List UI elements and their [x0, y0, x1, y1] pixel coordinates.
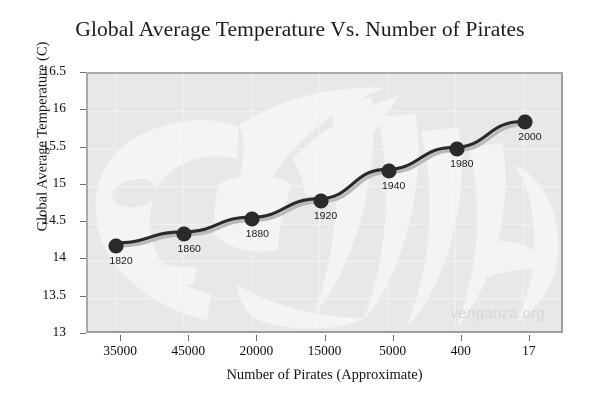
data-point-marker[interactable]: [313, 193, 328, 208]
y-tick-mark: [80, 72, 86, 73]
gridline-horizontal: [88, 224, 561, 225]
x-tick-label: 45000: [171, 343, 205, 359]
data-point-label: 1940: [382, 180, 405, 192]
data-point-marker[interactable]: [517, 115, 532, 130]
x-tick-mark: [188, 335, 189, 341]
y-tick-mark: [80, 296, 86, 297]
gridline-horizontal: [88, 261, 561, 262]
y-tick-label: 14.5: [0, 212, 66, 228]
data-point-label: 2000: [518, 131, 541, 143]
gridline-horizontal: [88, 298, 561, 299]
y-tick-label: 13.5: [0, 287, 66, 303]
y-tick-mark: [80, 147, 86, 148]
data-point-label: 1980: [450, 158, 473, 170]
gridline-horizontal: [88, 111, 561, 112]
x-tick-mark: [393, 335, 394, 341]
y-tick-label: 15.5: [0, 138, 66, 154]
x-tick-mark: [256, 335, 257, 341]
x-axis: 35000450002000015000500040017: [0, 335, 600, 365]
data-point-marker[interactable]: [449, 141, 464, 156]
y-tick-mark: [80, 109, 86, 110]
y-tick-mark: [80, 333, 86, 334]
gridline-vertical: [523, 74, 524, 331]
y-tick-mark: [80, 258, 86, 259]
watermark-text: venganza.org: [450, 305, 545, 322]
y-tick-mark: [80, 221, 86, 222]
x-tick-mark: [120, 335, 121, 341]
data-point-label: 1860: [178, 243, 201, 255]
x-axis-title: Number of Pirates (Approximate): [86, 367, 563, 384]
plot-inner: 1820186018801920194019802000 venganza.or…: [88, 74, 561, 331]
gridline-horizontal: [88, 149, 561, 150]
gridline-vertical: [115, 74, 116, 331]
x-tick-label: 20000: [239, 343, 273, 359]
x-tick-label: 15000: [308, 343, 342, 359]
y-tick-mark: [80, 184, 86, 185]
gridline-vertical: [387, 74, 388, 331]
gridline-vertical: [455, 74, 456, 331]
gridline-vertical: [251, 74, 252, 331]
x-tick-label: 5000: [379, 343, 406, 359]
y-tick-label: 16: [0, 100, 66, 116]
x-tick-mark: [529, 335, 530, 341]
x-tick-label: 35000: [103, 343, 137, 359]
y-tick-label: 15: [0, 175, 66, 191]
data-point-marker[interactable]: [177, 227, 192, 242]
y-tick-label: 16.5: [0, 63, 66, 79]
data-point-marker[interactable]: [109, 238, 124, 253]
data-point-label: 1920: [314, 210, 337, 222]
x-tick-mark: [325, 335, 326, 341]
x-tick-label: 400: [451, 343, 471, 359]
chart-container: Global Average Temperature Vs. Number of…: [0, 0, 600, 400]
x-tick-mark: [461, 335, 462, 341]
data-point-marker[interactable]: [245, 212, 260, 227]
plot-area: 1820186018801920194019802000 venganza.or…: [86, 72, 563, 333]
x-tick-label: 17: [522, 343, 536, 359]
gridline-vertical: [183, 74, 184, 331]
data-point-label: 1880: [246, 228, 269, 240]
data-point-label: 1820: [109, 255, 132, 267]
gridline-horizontal: [88, 186, 561, 187]
chart-title: Global Average Temperature Vs. Number of…: [0, 17, 600, 42]
data-point-marker[interactable]: [381, 163, 396, 178]
y-tick-label: 14: [0, 249, 66, 265]
